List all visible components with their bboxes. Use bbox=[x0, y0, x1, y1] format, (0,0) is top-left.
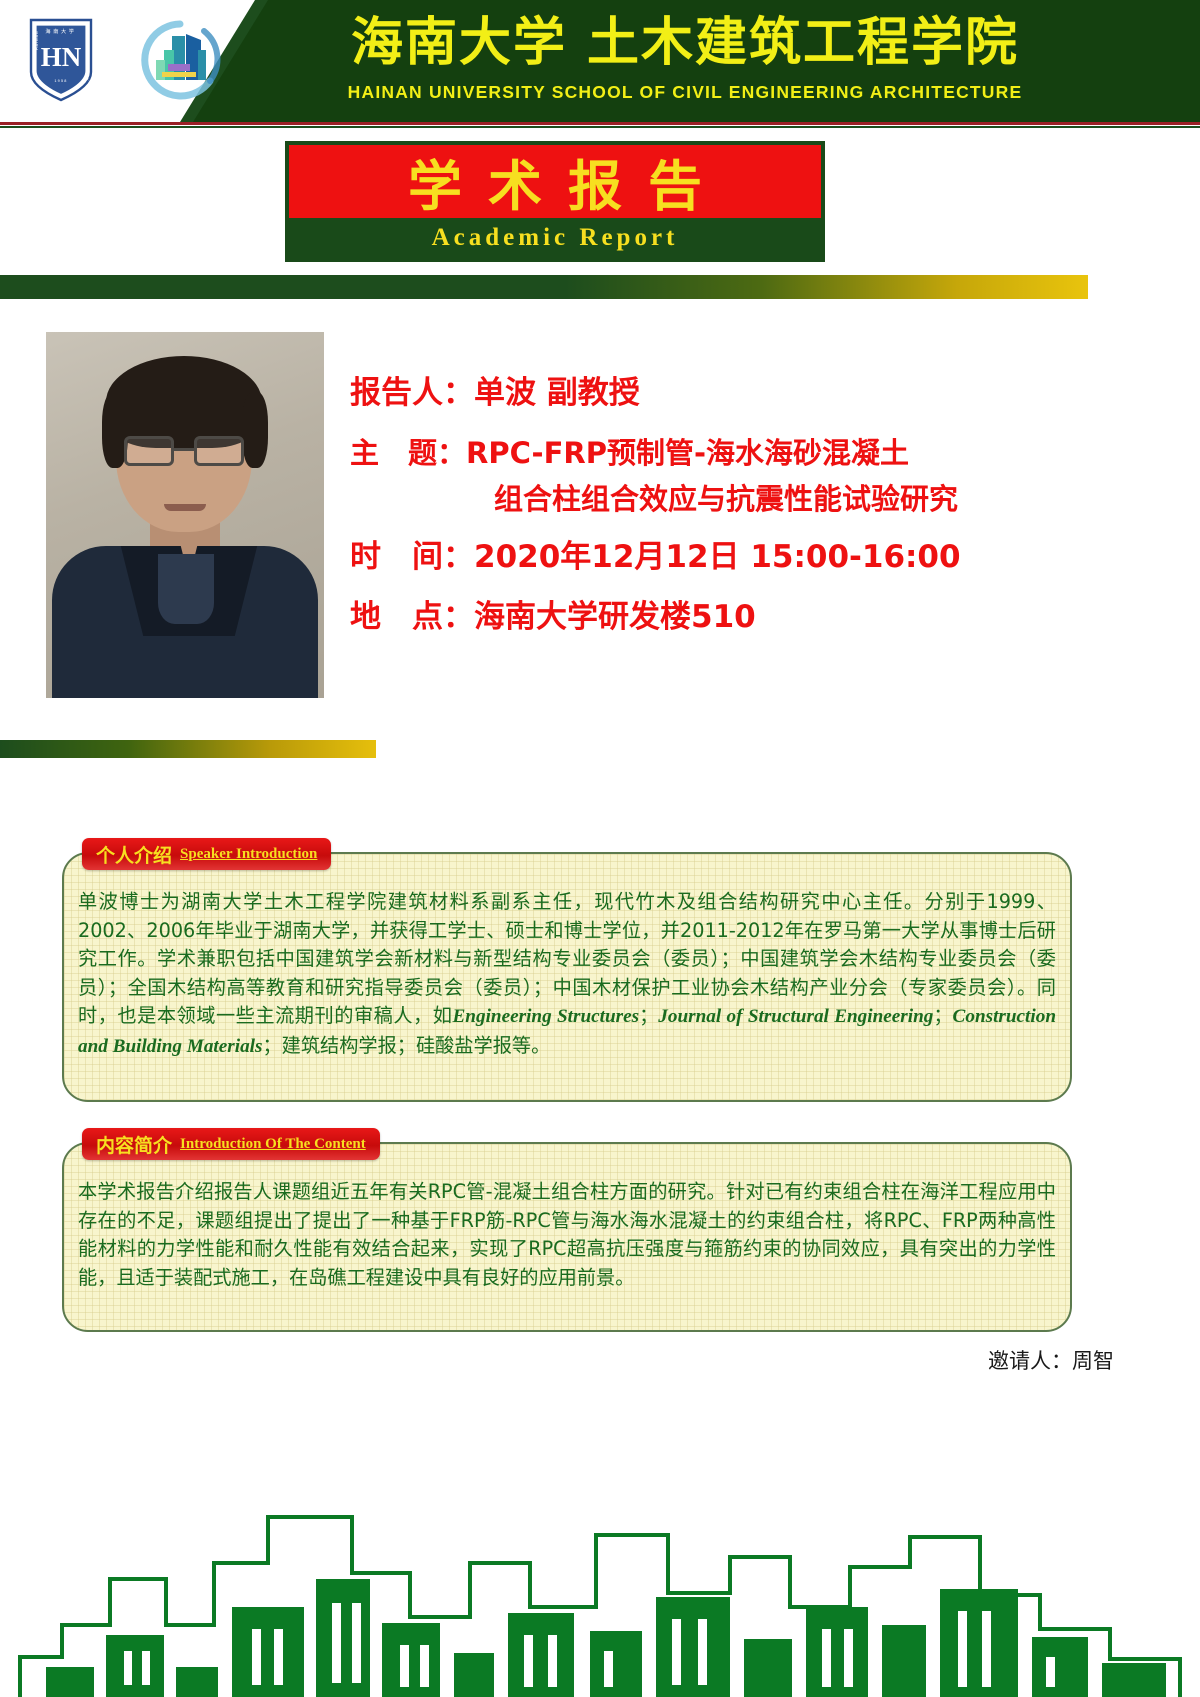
content-introduction-card: 内容简介 Introduction Of The Content 本学术报告介绍… bbox=[62, 1142, 1072, 1332]
time-line: 时 间：2020年12月12日 15:00-16:00 bbox=[350, 534, 1150, 580]
header-university-en: HAINAN UNIVERSITY SCHOOL OF CIVIL ENGINE… bbox=[290, 82, 1080, 110]
speaker-label: 报告人： bbox=[350, 375, 474, 411]
status-badge: 个人介绍 Speaker Introduction bbox=[82, 838, 331, 870]
topic-line-2: 组合柱组合效应与抗震性能试验研究 bbox=[350, 476, 1150, 522]
city-skyline-decoration bbox=[0, 1367, 1200, 1697]
topic-line-1: 主 题：RPC-FRP预制管-海水海砂混凝土 bbox=[350, 430, 1150, 476]
speaker-intro-badge-en: Speaker Introduction bbox=[180, 846, 317, 863]
svg-text:海南大学: 海南大学 bbox=[45, 27, 76, 35]
header-university-cn: 海南大学 土木建筑工程学院 bbox=[300, 12, 1070, 74]
speaker-intro-badge-cn: 个人介绍 bbox=[96, 841, 172, 868]
university-crest-icon: HN 海南大学 1958 HAINAN UNIVERSITY bbox=[28, 16, 94, 102]
event-details: 报告人：单波 副教授 主 题：RPC-FRP预制管-海水海砂混凝土 组合柱组合效… bbox=[350, 370, 1150, 640]
topic-value-line1: RPC-FRP预制管-海水海砂混凝土 bbox=[466, 436, 909, 470]
speaker-introduction-card: 个人介绍 Speaker Introduction 单波博士为湖南大学土木工程学… bbox=[62, 852, 1072, 1102]
svg-text:HN: HN bbox=[41, 42, 82, 72]
time-value: 2020年12月12日 15:00-16:00 bbox=[474, 539, 961, 575]
svg-text:UNIVERSITY: UNIVERSITY bbox=[85, 50, 89, 82]
status-badge: 内容简介 Introduction Of The Content bbox=[82, 1128, 380, 1160]
svg-text:HAINAN: HAINAN bbox=[35, 30, 39, 50]
header-rule-red bbox=[0, 122, 1200, 125]
section-gradient-divider bbox=[0, 740, 376, 758]
title-en-subtitle: Academic Report bbox=[289, 218, 821, 258]
school-emblem-icon bbox=[138, 20, 222, 100]
venue-label: 地 点： bbox=[350, 599, 474, 635]
title-cn-banner: 学术报告 bbox=[289, 145, 821, 218]
title-gradient-divider bbox=[0, 275, 1088, 299]
content-intro-paragraph: 本学术报告介绍报告人课题组近五年有关RPC管-混凝土组合柱方面的研究。针对已有约… bbox=[78, 1178, 1056, 1292]
speaker-intro-paragraph: 单波博士为湖南大学土木工程学院建筑材料系副系主任，现代竹木及组合结构研究中心主任… bbox=[78, 888, 1056, 1061]
avatar bbox=[46, 332, 324, 698]
poster-header: HN 海南大学 1958 HAINAN UNIVERSITY 海南大学 土木建筑… bbox=[0, 0, 1200, 122]
content-intro-badge-cn: 内容简介 bbox=[96, 1131, 172, 1158]
header-rule-green bbox=[0, 126, 1200, 128]
topic-label: 主 题： bbox=[350, 436, 466, 470]
page-title: 学术报告 bbox=[382, 142, 728, 221]
venue-line: 地 点：海南大学研发楼510 bbox=[350, 594, 1150, 640]
content-intro-badge-en: Introduction Of The Content bbox=[180, 1136, 366, 1153]
svg-text:1958: 1958 bbox=[54, 79, 67, 83]
venue-value: 海南大学研发楼510 bbox=[474, 599, 756, 635]
speaker-value: 单波 副教授 bbox=[474, 375, 640, 411]
poster-title-block: 学术报告 Academic Report bbox=[285, 141, 825, 262]
time-label: 时 间： bbox=[350, 539, 474, 575]
speaker-line: 报告人：单波 副教授 bbox=[350, 370, 1150, 416]
